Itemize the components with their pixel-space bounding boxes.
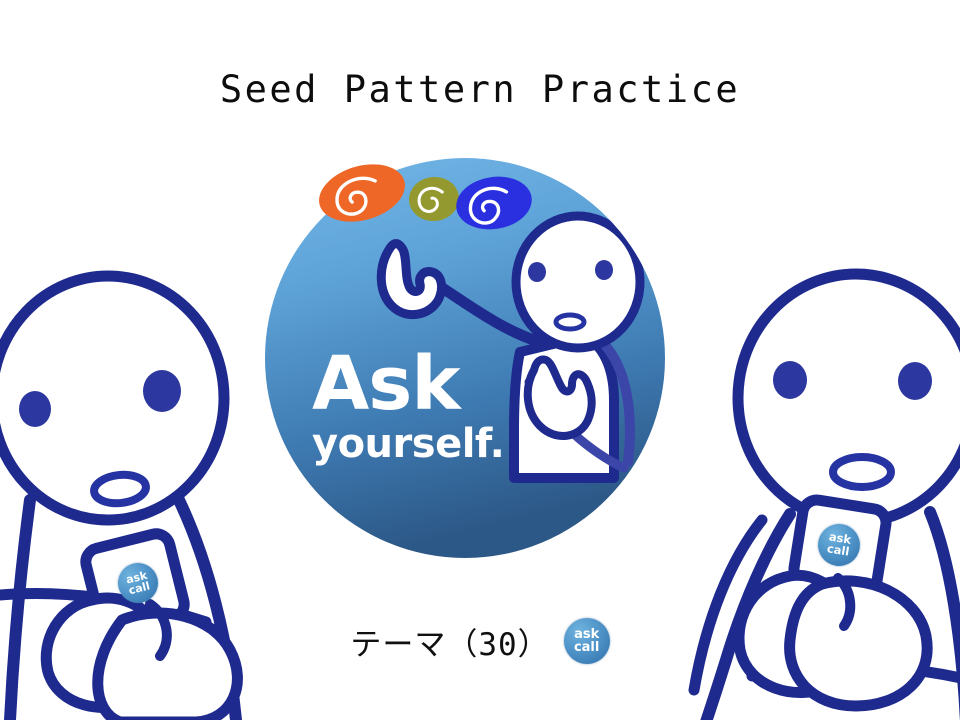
slide-canvas: ask call ask call [0,0,960,720]
left-card-badge-line2: call [128,580,152,596]
hero-eye-left [528,262,546,282]
footer-row: テーマ（30） ask call [0,618,960,664]
hero-mouth [556,315,584,329]
hero-eye-right [595,260,613,280]
askcall-badge-line1: ask [574,628,599,641]
theme-label: テーマ（30） [350,619,549,664]
right-card-badge-line2: call [826,543,850,558]
askcall-logo-badge: ask call [564,618,610,664]
askcall-badge-line2: call [574,641,599,654]
page-title: Seed Pattern Practice [0,68,960,111]
